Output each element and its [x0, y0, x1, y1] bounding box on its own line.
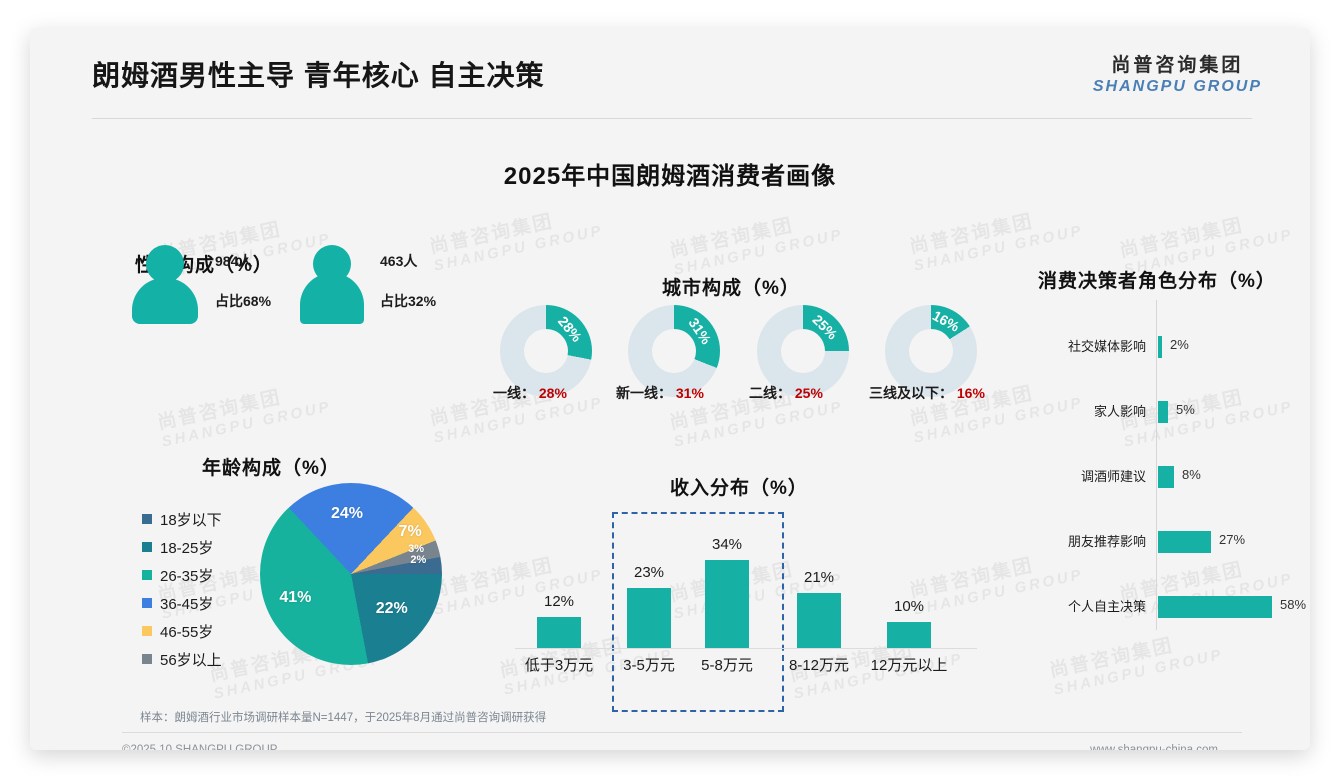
age-legend: 18岁以下18-25岁26-35岁36-45岁46-55岁56岁以上 [142, 506, 222, 674]
sample-note: 样本：朗姆酒行业市场调研样本量N=1447，于2025年8月通过尚普咨询调研获得 [140, 709, 546, 725]
legend-item-3: 36-45岁 [142, 590, 222, 616]
deck-title: 朗姆酒男性主导 青年核心 自主决策 [92, 54, 545, 94]
donut-hole [781, 329, 825, 373]
watermark: 尚普咨询集团SHANGPU GROUP [908, 202, 1085, 275]
decision-row-label: 调酒师建议 [1081, 466, 1146, 485]
decision-row-bar [1158, 336, 1162, 358]
income-axis-line [515, 648, 977, 649]
legend-item-4: 46-55岁 [142, 618, 222, 644]
donut-caption-一线: 一线： 28% [493, 383, 567, 403]
income-bar [705, 560, 749, 648]
donut-caption-三线及以下: 三线及以下： 16% [869, 383, 985, 403]
decision-row: 调酒师建议8% [1038, 462, 1298, 492]
female-share: 占比32% [380, 291, 436, 311]
income-bar-value: 10% [864, 598, 954, 615]
legend-label: 56岁以上 [160, 649, 222, 670]
legend-item-2: 26-35岁 [142, 562, 222, 588]
logo-en-text: SHANGPU GROUP [1093, 78, 1262, 96]
watermark: 尚普咨询集团SHANGPU GROUP [156, 378, 333, 451]
female-count: 463人 [380, 251, 417, 271]
income-bar-value: 12% [514, 593, 604, 610]
legend-swatch [142, 542, 152, 552]
footer-website: www.shangpu-china.com [1090, 744, 1218, 750]
legend-label: 26-35岁 [160, 565, 213, 586]
decision-bar-chart: 社交媒体影响2%家人影响5%调酒师建议8%朋友推荐影响27%个人自主决策58% [1038, 300, 1298, 640]
decision-row-bar [1158, 596, 1272, 618]
legend-swatch [142, 626, 152, 636]
slide-header: 朗姆酒男性主导 青年核心 自主决策 尚普咨询集团 SHANGPU GROUP [30, 28, 1310, 118]
watermark: 尚普咨询集团SHANGPU GROUP [428, 202, 605, 275]
decision-row-value: 27% [1219, 532, 1245, 547]
brand-logo: 尚普咨询集团 SHANGPU GROUP [1093, 50, 1262, 96]
income-category-label: 12万元以上 [859, 654, 959, 675]
pie-slice-label: 22% [376, 600, 408, 618]
age-section-title: 年龄构成（%） [202, 453, 340, 480]
income-bar [887, 622, 931, 648]
header-divider [92, 118, 1252, 119]
decision-section-title: 消费决策者角色分布（%） [1038, 266, 1276, 293]
legend-label: 18岁以下 [160, 509, 222, 530]
donut-hole [652, 329, 696, 373]
legend-label: 18-25岁 [160, 537, 213, 558]
slide-canvas: 尚普咨询集团SHANGPU GROUP尚普咨询集团SHANGPU GROUP尚普… [30, 28, 1310, 750]
legend-item-0: 18岁以下 [142, 506, 222, 532]
income-bar [537, 617, 581, 648]
footer-divider [122, 732, 1242, 733]
decision-row-value: 58% [1280, 597, 1306, 612]
decision-row-label: 个人自主决策 [1068, 596, 1146, 615]
decision-row-bar [1158, 466, 1174, 488]
income-category-label: 5-8万元 [677, 654, 777, 675]
decision-row: 个人自主决策58% [1038, 592, 1298, 622]
income-category-label: 低于3万元 [509, 654, 609, 675]
income-section-title: 收入分布（%） [670, 473, 808, 500]
income-category-label: 8-12万元 [769, 654, 869, 675]
legend-swatch [142, 654, 152, 664]
city-section-title: 城市构成（%） [662, 273, 800, 300]
logo-cn-text: 尚普咨询集团 [1093, 50, 1262, 77]
watermark: 尚普咨询集团SHANGPU GROUP [668, 206, 845, 279]
income-bar [797, 593, 841, 648]
decision-row-label: 社交媒体影响 [1068, 336, 1146, 355]
legend-swatch [142, 570, 152, 580]
decision-row: 朋友推荐影响27% [1038, 527, 1298, 557]
pie-slice-label: 24% [331, 505, 363, 523]
page-title: 2025年中国朗姆酒消费者画像 [30, 156, 1310, 191]
legend-label: 46-55岁 [160, 621, 213, 642]
pie-slice-label: 41% [279, 589, 311, 607]
footer-copyright: ©2025.10 SHANGPU GROUP [122, 744, 277, 750]
decision-row: 家人影响5% [1038, 397, 1298, 427]
decision-row-label: 朋友推荐影响 [1068, 531, 1146, 550]
male-share: 占比68% [215, 291, 271, 311]
male-count: 984人 [215, 251, 252, 271]
decision-row-value: 5% [1176, 402, 1195, 417]
legend-item-5: 56岁以上 [142, 646, 222, 672]
pie-slice-label: 2% [410, 554, 426, 566]
decision-row-bar [1158, 531, 1211, 553]
legend-swatch [142, 514, 152, 524]
donut-caption-新一线: 新一线： 31% [616, 383, 704, 403]
legend-label: 36-45岁 [160, 593, 213, 614]
legend-swatch [142, 598, 152, 608]
income-bar-value: 34% [682, 536, 772, 553]
decision-row-label: 家人影响 [1094, 401, 1146, 420]
donut-hole [909, 329, 953, 373]
income-bar-chart: 12%低于3万元23%3-5万元34%5-8万元21%8-12万元10%12万元… [515, 506, 995, 686]
income-bar-value: 21% [774, 569, 864, 586]
income-bar-value: 23% [604, 564, 694, 581]
income-bar [627, 588, 671, 648]
donut-hole [524, 329, 568, 373]
decision-row-value: 8% [1182, 467, 1201, 482]
decision-row-value: 2% [1170, 337, 1189, 352]
legend-item-1: 18-25岁 [142, 534, 222, 560]
gender-composition: 984人 占比68% 463人 占比32% [100, 223, 430, 363]
donut-caption-二线: 二线： 25% [749, 383, 823, 403]
pie-slice-label: 7% [399, 523, 422, 541]
decision-row-bar [1158, 401, 1168, 423]
decision-row: 社交媒体影响2% [1038, 332, 1298, 362]
